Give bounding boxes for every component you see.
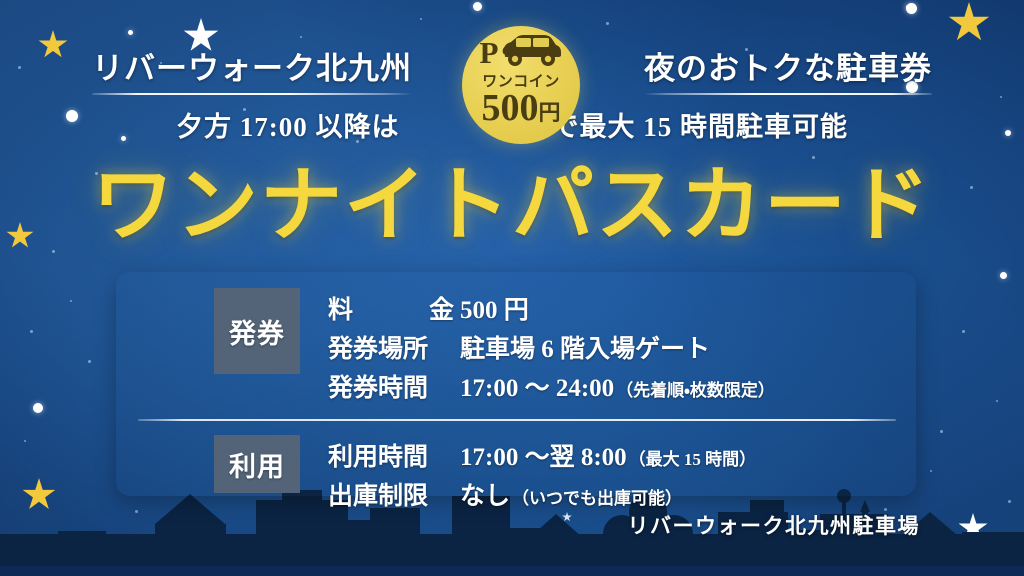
ground-strip [0,566,1024,576]
page-title: ワンナイトパスカード [0,162,1024,251]
table-row: 出庫制限 なし （いつでも出庫可能） [328,476,756,512]
badge-price: 500 円 [481,90,560,126]
star-dot [906,5,910,9]
header-brand-text: リバーウォーク北九州 [92,51,412,86]
star-icon-white [183,18,219,54]
star-dot [31,563,42,574]
badge-price-unit: 円 [538,103,560,124]
star-speck [996,400,998,402]
row-key-char: 金 [429,290,454,326]
star-dot [33,403,43,413]
row-value: 17:00 〜 24:00 [460,368,614,404]
star-icon-yellow [948,2,990,44]
table-row: 発券場所 駐車場 6 階入場ゲート [328,329,775,365]
star-dot [906,3,917,14]
table-row: 料 金 500 円 [328,290,775,326]
header-time-left: 夕方 17:00 以降は [176,112,400,142]
star-speck [930,470,932,472]
header-tagline-right: 夜のおトクな駐車券 [644,52,932,95]
row-key: 発券時間 [328,368,460,404]
parking-p-icon: P [480,37,499,68]
row-value: 500 円 [460,290,529,326]
star-speck [420,18,422,20]
row-note: （最大 15 時間） [629,445,757,470]
header-rule-right [644,93,932,95]
star-speck [70,300,72,302]
star-speck [24,440,26,442]
header-duration-right: で最大 15 時間駐車可能 [552,112,849,142]
star-speck [1008,500,1011,503]
section-tag-usage: 利用 [214,435,300,493]
poster-root: リバーウォーク北九州 夜のおトクな駐車券 夕方 17:00 以降は で最大 15… [0,0,1024,576]
row-value: 駐車場 6 階入場ゲート [460,329,710,365]
row-key-char: 料 [328,290,353,326]
star-speck [940,430,943,433]
star-speck [30,330,33,333]
row-note: （いつでも出庫可能） [512,484,682,509]
rows-usage: 利用時間 17:00 〜翌 8:00 （最大 15 時間） 出庫制限 なし （い… [300,435,756,515]
star-speck [210,524,212,526]
star-speck [300,36,302,38]
rows-issuance: 料 金 500 円 発券場所 駐車場 6 階入場ゲート 発券時間 17:00 〜… [300,288,775,407]
star-dot [473,2,482,11]
header-brand-left: リバーウォーク北九州 [92,52,412,95]
section-tag-issuance: 発券 [214,288,300,374]
row-key: 利用時間 [328,437,460,473]
row-value: 17:00 〜翌 8:00 [460,437,627,473]
star-icon-yellow [22,478,56,512]
star-speck [606,22,609,25]
star-speck [962,330,965,333]
coin-badge: P ワンコイン 500 円 [462,26,580,144]
badge-price-number: 500 [481,90,538,126]
row-key: 出庫制限 [328,476,460,512]
header-rule-left [92,93,412,95]
star-icon-white [958,513,988,543]
table-row: 利用時間 17:00 〜翌 8:00 （最大 15 時間） [328,437,756,473]
info-panel: 発券 料 金 500 円 発券場所 駐車場 6 階入場ゲート 発券時間 17:0… [116,272,916,496]
row-key: 料 金 [328,290,460,326]
row-note: （先着順・枚数限定） [616,376,775,401]
row-value: なし [460,476,510,512]
star-speck [88,360,91,363]
table-row: 発券時間 17:00 〜 24:00 （先着順・枚数限定） [328,368,775,404]
star-dot [1000,272,1007,279]
row-key: 発券場所 [328,329,460,365]
badge-top-row: P [480,35,563,69]
header-tagline-text: 夜のおトクな駐車券 [644,51,932,86]
section-usage: 利用 利用時間 17:00 〜翌 8:00 （最大 15 時間） 出庫制限 なし… [116,421,916,515]
star-dot [128,30,133,35]
section-issuance: 発券 料 金 500 円 発券場所 駐車場 6 階入場ゲート 発券時間 17:0… [116,272,916,407]
car-icon [500,33,562,72]
